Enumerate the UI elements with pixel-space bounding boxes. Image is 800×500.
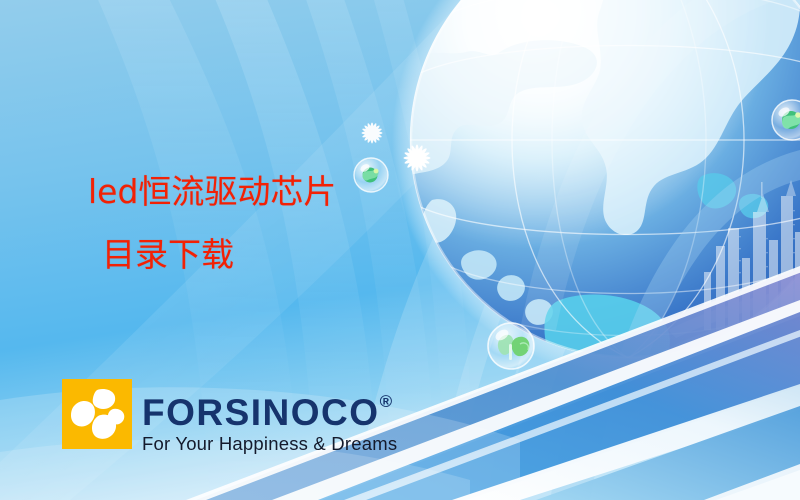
logo-text-block: FORSINOCO® For Your Happiness & Dreams [142, 379, 397, 455]
registered-trademark-icon: ® [380, 392, 393, 411]
four-petal-pinwheel-icon [62, 379, 132, 449]
bubble-leaf [488, 323, 534, 369]
brand-word: FORSINOCO [142, 392, 380, 433]
banner-canvas: led恒流驱动芯片 目录下载 FORSINOCO® For Your Happi… [0, 0, 800, 500]
headline: led恒流驱动芯片 目录下载 [88, 160, 428, 286]
logo-mark [62, 379, 132, 449]
brand-name: FORSINOCO® [142, 383, 397, 432]
brand-tagline: For Your Happiness & Dreams [142, 433, 397, 455]
company-logo: FORSINOCO® For Your Happiness & Dreams [62, 379, 397, 455]
headline-line-2: 目录下载 [88, 223, 428, 286]
headline-line-1: led恒流驱动芯片 [88, 172, 336, 211]
sparkle-star [362, 123, 383, 144]
